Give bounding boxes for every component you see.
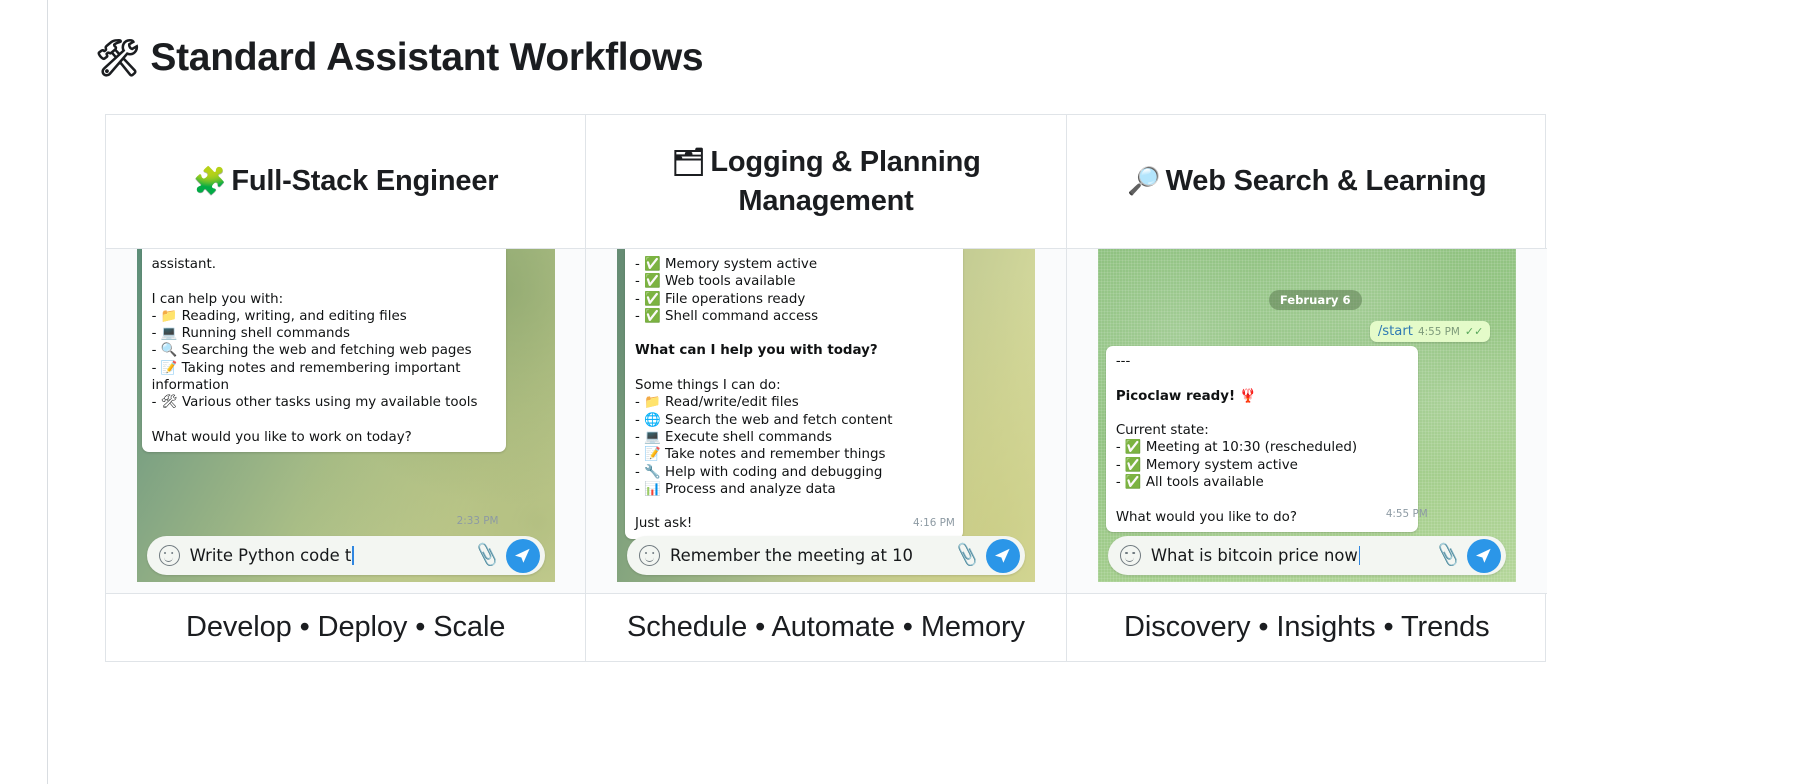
- bubble-line: Picoclaw ready! 🦞: [1116, 388, 1409, 405]
- bubble-spacer: [1116, 491, 1409, 508]
- paperclip-icon[interactable]: 📎: [1434, 543, 1462, 567]
- table-header-row: 🧩Full-Stack Engineer 🗂Logging & Planning…: [106, 115, 1545, 249]
- column-heading-text: Logging & Planning Management: [710, 146, 980, 216]
- table-footer-cell-2: Schedule • Automate • Memory: [586, 594, 1066, 661]
- card-index-dividers-icon: 🗂: [671, 147, 705, 177]
- bubble-line: - 🔧 Help with coding and debugging: [635, 464, 954, 481]
- message-input[interactable]: What is bitcoin price now: [1151, 546, 1436, 565]
- telegram-screenshot-1: assistant. I can help you with: - 📁 Read…: [137, 249, 555, 582]
- bubble-line: - 🌐 Search the web and fetch content: [635, 412, 954, 429]
- emoji-icon[interactable]: [1120, 545, 1141, 566]
- emoji-icon[interactable]: [639, 545, 660, 566]
- table-footer-cell-3: Discovery • Insights • Trends: [1067, 594, 1547, 661]
- bubble-line: assistant.: [152, 256, 497, 273]
- page-left-rule: [47, 0, 48, 784]
- puzzle-piece-icon: 🧩: [193, 166, 226, 196]
- page-title-text: Standard Assistant Workflows: [150, 36, 703, 80]
- bubble-spacer: [1116, 370, 1409, 387]
- message-composer-2[interactable]: Remember the meeting at 10 📎: [627, 536, 1025, 575]
- bubble-spacer: [152, 273, 497, 290]
- bubble-line: Some things I can do:: [635, 377, 954, 394]
- bubble-line: I can help you with:: [152, 291, 497, 308]
- message-composer-1[interactable]: Write Python code t 📎: [147, 536, 545, 575]
- bubble-line: - 📝 Taking notes and remembering importa…: [152, 360, 497, 395]
- table-cell-screenshot-1: assistant. I can help you with: - 📁 Read…: [106, 249, 586, 594]
- assistant-message-bubble: --- Picoclaw ready! 🦞 Current state: - ✅…: [1106, 346, 1418, 532]
- bubble-line: - 💻 Execute shell commands: [635, 429, 954, 446]
- send-button[interactable]: [506, 539, 540, 573]
- assistant-message-bubble: - ✅ Memory system active - ✅ Web tools a…: [625, 249, 963, 539]
- table-header-cell-logging-planning: 🗂Logging & Planning Management: [586, 115, 1066, 249]
- send-button[interactable]: [1467, 539, 1501, 573]
- paperclip-icon[interactable]: 📎: [473, 543, 501, 567]
- column-heading-text: Full-Stack Engineer: [231, 165, 498, 197]
- text-caret: [352, 546, 354, 565]
- paperclip-icon[interactable]: 📎: [953, 543, 981, 567]
- table-screenshot-row: assistant. I can help you with: - 📁 Read…: [106, 249, 1545, 594]
- table-header-cell-web-search: 🔎Web Search & Learning: [1067, 115, 1547, 249]
- column-tagline: Develop • Deploy • Scale: [186, 611, 505, 644]
- message-input-value: Write Python code t: [190, 546, 352, 565]
- bubble-spacer: [1116, 405, 1409, 422]
- telegram-screenshot-2: - ✅ Memory system active - ✅ Web tools a…: [617, 249, 1035, 582]
- outgoing-message-time: 4:55 PM: [1418, 326, 1460, 338]
- page-title: 🛠 Standard Assistant Workflows: [95, 0, 1555, 80]
- bubble-line: What would you like to do?: [1116, 509, 1409, 526]
- table-header-cell-full-stack-engineer: 🧩Full-Stack Engineer: [106, 115, 586, 249]
- table-cell-screenshot-3: February 6 /start 4:55 PM ✓✓ --- Picocla…: [1067, 249, 1547, 594]
- bubble-line: What can I help you with today?: [635, 342, 954, 359]
- message-composer-3[interactable]: What is bitcoin price now 📎: [1108, 536, 1506, 575]
- emoji-icon[interactable]: [159, 545, 180, 566]
- bubble-line: Just ask!: [635, 515, 954, 532]
- workflows-table: 🧩Full-Stack Engineer 🗂Logging & Planning…: [105, 114, 1546, 662]
- magnifying-glass-icon: 🔎: [1127, 166, 1160, 196]
- message-input[interactable]: Remember the meeting at 10: [670, 546, 955, 565]
- column-heading: 🗂Logging & Planning Management: [600, 143, 1051, 220]
- message-input-value: Remember the meeting at 10: [670, 546, 913, 565]
- bubble-line: - ✅ All tools available: [1116, 474, 1409, 491]
- bubble-line: - ✅ Shell command access: [635, 308, 954, 325]
- column-heading: 🔎Web Search & Learning: [1127, 162, 1486, 200]
- bubble-line: - 📝 Take notes and remember things: [635, 446, 954, 463]
- bubble-line: What would you like to work on today?: [152, 429, 497, 446]
- bubble-line: ---: [1116, 353, 1409, 370]
- page-root: 🛠 Standard Assistant Workflows 🧩Full-Sta…: [0, 0, 1806, 784]
- bubble-spacer: [635, 498, 954, 515]
- assistant-message-bubble: assistant. I can help you with: - 📁 Read…: [142, 249, 506, 452]
- telegram-screenshot-3: February 6 /start 4:55 PM ✓✓ --- Picocla…: [1098, 249, 1516, 582]
- page-content: 🛠 Standard Assistant Workflows 🧩Full-Sta…: [95, 0, 1555, 80]
- text-caret: [1359, 546, 1361, 565]
- column-heading: 🧩Full-Stack Engineer: [193, 162, 498, 200]
- message-timestamp: 4:55 PM: [1386, 508, 1428, 520]
- bubble-line: - 📊 Process and analyze data: [635, 481, 954, 498]
- bubble-line: - 📁 Reading, writing, and editing files: [152, 308, 497, 325]
- bubble-line: - 🛠 Various other tasks using my availab…: [152, 394, 497, 411]
- bubble-line: - ✅ Web tools available: [635, 273, 954, 290]
- bubble-spacer: [635, 360, 954, 377]
- send-button[interactable]: [986, 539, 1020, 573]
- column-tagline: Discovery • Insights • Trends: [1124, 611, 1490, 644]
- outgoing-message-bubble: /start 4:55 PM ✓✓: [1370, 321, 1490, 342]
- bubble-line: - ✅ File operations ready: [635, 291, 954, 308]
- bubble-line: - ✅ Meeting at 10:30 (rescheduled): [1116, 439, 1409, 456]
- hammer-and-wrench-icon: 🛠: [95, 40, 140, 76]
- table-cell-screenshot-2: - ✅ Memory system active - ✅ Web tools a…: [586, 249, 1066, 594]
- message-input-value: What is bitcoin price now: [1151, 546, 1358, 565]
- bubble-line: Current state:: [1116, 422, 1409, 439]
- column-heading-text: Web Search & Learning: [1166, 165, 1487, 197]
- bubble-line: - 📁 Read/write/edit files: [635, 394, 954, 411]
- column-tagline: Schedule • Automate • Memory: [627, 611, 1025, 644]
- bubble-line: - ✅ Memory system active: [635, 256, 954, 273]
- bubble-line: - ✅ Memory system active: [1116, 457, 1409, 474]
- date-separator-badge: February 6: [1269, 290, 1362, 310]
- message-timestamp: 2:33 PM: [457, 515, 499, 527]
- read-receipt-icon: ✓✓: [1465, 325, 1483, 338]
- message-timestamp: 4:16 PM: [913, 517, 955, 529]
- bubble-spacer: [635, 325, 954, 342]
- message-input[interactable]: Write Python code t: [190, 546, 475, 565]
- outgoing-message-text: /start: [1378, 324, 1413, 339]
- table-footer-row: Develop • Deploy • Scale Schedule • Auto…: [106, 594, 1545, 661]
- bubble-line: - 🔍 Searching the web and fetching web p…: [152, 342, 497, 359]
- table-footer-cell-1: Develop • Deploy • Scale: [106, 594, 586, 661]
- bubble-spacer: [152, 412, 497, 429]
- bubble-line: - 💻 Running shell commands: [152, 325, 497, 342]
